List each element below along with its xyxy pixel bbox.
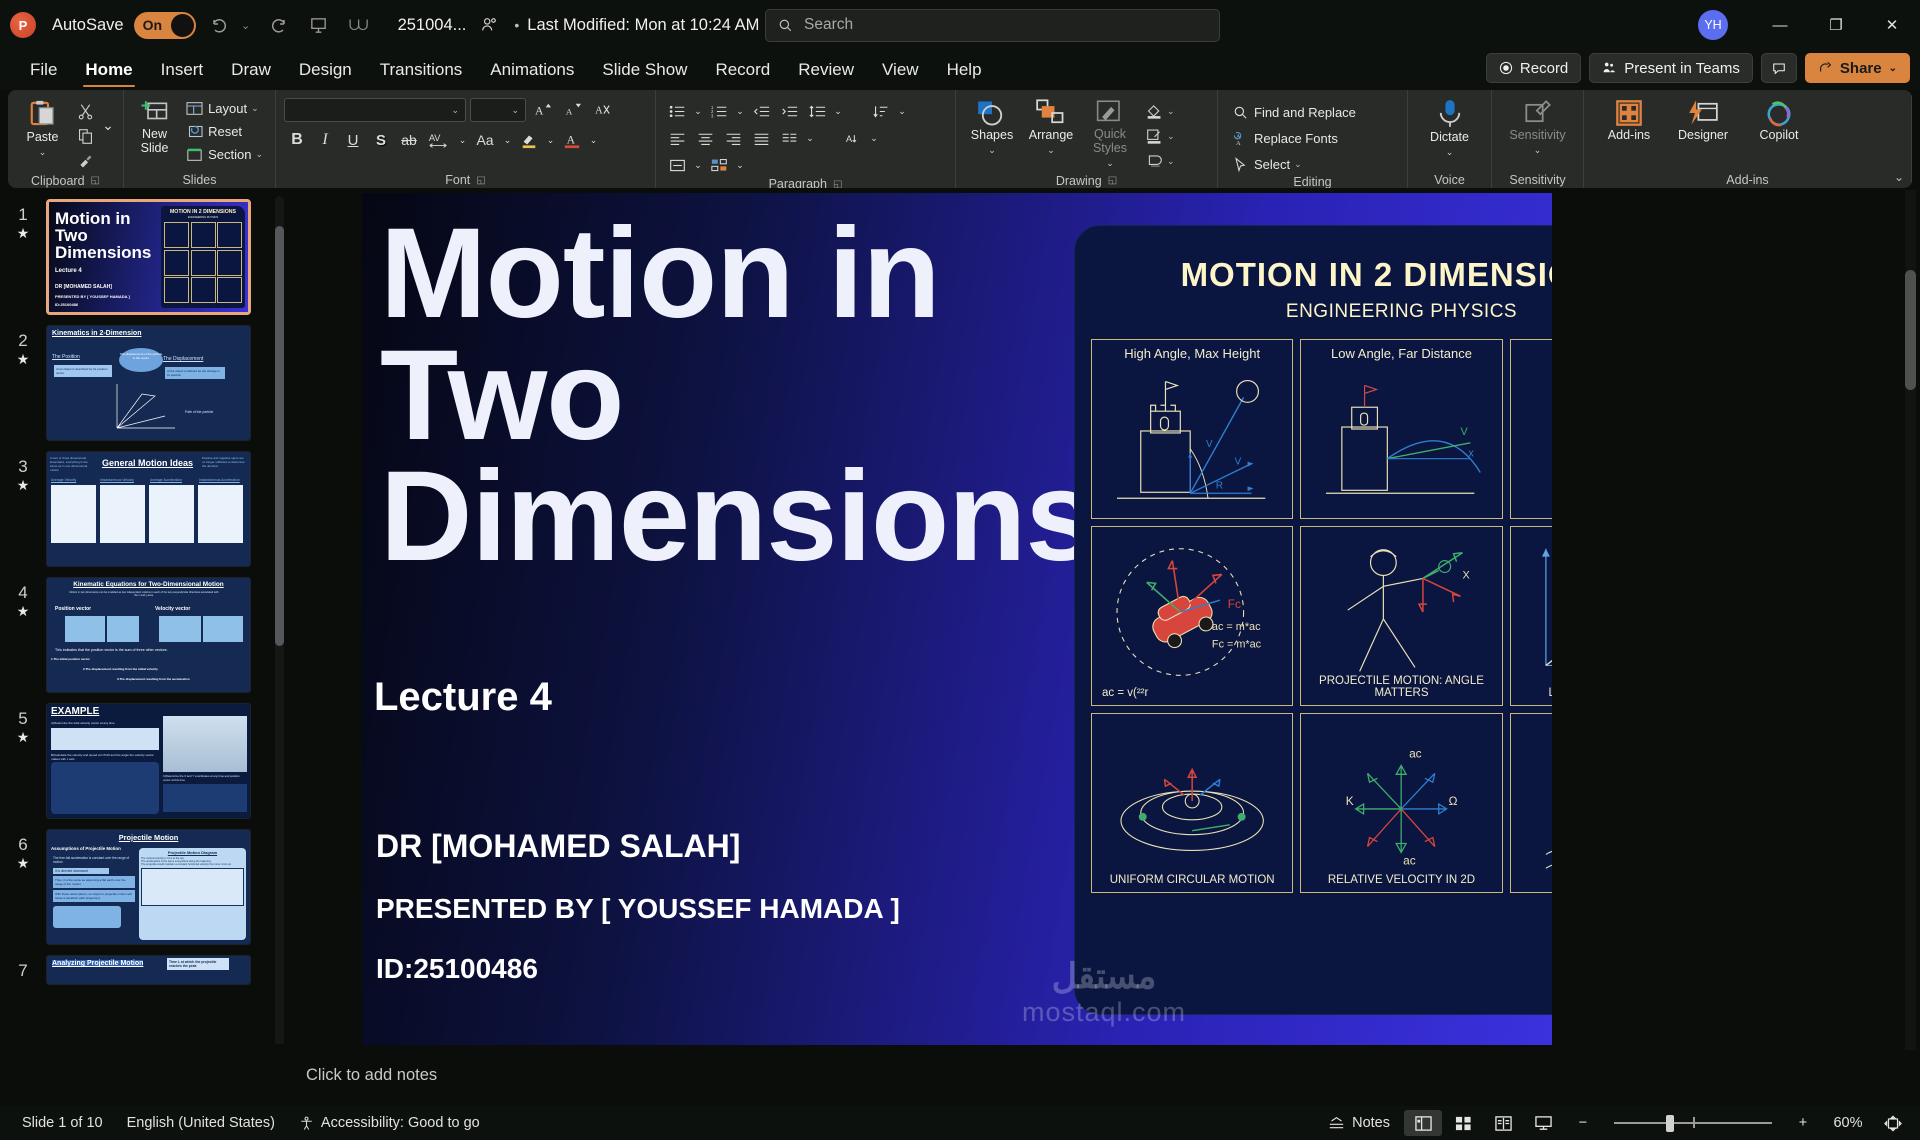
record-label: Record — [1520, 60, 1568, 77]
replace-fonts-icon: AA — [1230, 129, 1250, 147]
copilot-icon — [1764, 99, 1794, 127]
format-painter-icon[interactable] — [72, 149, 98, 173]
thumb-lead: Motion in two dimensions can be modeled … — [69, 591, 219, 597]
last-modified-label[interactable]: Last Modified: Mon at 10:24 AM — [527, 16, 759, 35]
line-spacing-chevron-icon[interactable]: ⌄ — [832, 99, 844, 123]
svg-text:x: x — [1469, 448, 1475, 460]
rocket-vector-diagram-icon: v v x — [1511, 340, 1552, 518]
text-highlight-icon[interactable] — [516, 128, 542, 152]
section-chevron-icon[interactable]: ⌄ — [255, 149, 263, 160]
italic-button[interactable]: I — [312, 128, 338, 152]
zoom-out-button[interactable]: − — [1564, 1110, 1602, 1136]
slideshow-icon — [1534, 1115, 1553, 1132]
infographic-title: MOTION IN 2 DIMENSIONS — [1091, 256, 1552, 294]
quick-styles-icon — [1095, 99, 1125, 126]
new-slide-label: New Slide — [134, 127, 175, 156]
slide-number: 3 — [18, 457, 27, 476]
ribbon-group-sensitivity: Sensitivity ⌄ Sensitivity — [1492, 90, 1584, 188]
start-presentation-icon[interactable] — [302, 8, 336, 42]
align-left-icon[interactable] — [664, 126, 690, 150]
relative-velocity-star-diagram-icon: ac Ω K ac — [1301, 714, 1501, 892]
customize-quick-access-icon[interactable]: ⩊ — [342, 8, 376, 42]
svg-text:A: A — [845, 133, 852, 143]
quick-styles-button[interactable]: Quick Styles ⌄ — [1082, 95, 1138, 173]
status-bar: Slide 1 of 10 English (United States) Ac… — [0, 1106, 1920, 1140]
search-icon — [1230, 103, 1250, 121]
thumb-bubble: The displacement of the particle is the … — [119, 348, 163, 372]
shapes-label: Shapes — [971, 129, 1013, 143]
thumb-n1: 1.The initial position vector — [51, 657, 90, 661]
change-case-chevron-icon[interactable]: ⌄ — [501, 128, 514, 152]
tab-animations[interactable]: Animations — [476, 50, 588, 90]
svg-text:V: V — [1206, 439, 1213, 450]
highlight-chevron-icon[interactable]: ⌄ — [544, 128, 557, 152]
slide-count[interactable]: Slide 1 of 10 — [10, 1110, 115, 1136]
window-controls: YH — ❐ ✕ — [1698, 0, 1920, 50]
ribbon-group-slides: New Slide Layout ⌄ Reset — [124, 90, 276, 188]
share-button[interactable]: Share ⌄ — [1805, 53, 1910, 83]
slide-thumbnail-4[interactable]: Kinematic Equations for Two-Dimensional … — [46, 577, 251, 693]
ribbon-tabs: File Home Insert Draw Design Transitions… — [0, 50, 1920, 90]
share-chevron-icon[interactable]: ⌄ — [1889, 63, 1897, 74]
tab-design[interactable]: Design — [285, 50, 366, 90]
infographic-cell-9: VAC = VAB + BC — [1510, 713, 1552, 893]
fit-slide-button[interactable] — [1874, 1110, 1912, 1136]
font-name-chevron-icon[interactable]: ⌄ — [451, 105, 459, 116]
cell-5-caption: PROJECTILE MOTION: ANGLE MATTERS — [1301, 675, 1501, 699]
thumb-subtitle: Lecture 4 — [55, 268, 82, 274]
thumb-q1: A)Determine the total velocity vector at… — [51, 721, 156, 725]
language-indicator[interactable]: English (United States) — [115, 1110, 287, 1136]
reading-view-button[interactable] — [1484, 1110, 1522, 1136]
infographic-cell-2: Low Angle, Far Distance V x — [1300, 339, 1502, 519]
arrange-label: Arrange — [1029, 129, 1073, 143]
change-case-button[interactable]: Aa — [471, 128, 499, 152]
tab-help[interactable]: Help — [933, 50, 996, 90]
copilot-label: Copilot — [1760, 129, 1799, 143]
character-spacing-chevron-icon[interactable]: ⌄ — [456, 128, 469, 152]
thumb-title: Analyzing Projectile Motion — [52, 960, 143, 967]
section-button[interactable]: Section ⌄ — [180, 143, 267, 165]
find-and-replace-label: Find and Replace — [1254, 105, 1356, 120]
teams-icon — [1602, 61, 1617, 75]
thumb-c3: Average Acceleration — [150, 478, 182, 482]
section-label: Section — [208, 147, 251, 162]
autosave-toggle[interactable]: On — [134, 12, 196, 39]
addins-group-label: Add-ins — [1726, 173, 1768, 187]
cell-4-label-fc: Fc = m*ac — [1212, 639, 1262, 651]
font-name-input[interactable]: ⌄ — [284, 98, 466, 122]
copy-icon[interactable] — [72, 124, 98, 148]
powerpoint-window: P AutoSave On ⌄ ⩊ 251004... • Last Modif… — [0, 0, 1920, 1140]
thumb-title: Kinematics in 2-Dimension — [52, 330, 141, 337]
restore-button[interactable]: ❐ — [1808, 0, 1864, 50]
slide-thumbnail-3[interactable]: General Motion Ideas In two or three dim… — [46, 451, 251, 567]
quick-styles-chevron-icon[interactable]: ⌄ — [1106, 158, 1114, 169]
cell-7-caption: UNIFORM CIRCULAR MOTION — [1092, 874, 1292, 886]
cell-4-label-ac: ac = m*ac — [1212, 621, 1261, 633]
infographic-image[interactable]: MOTION IN 2 DIMENSIONS ENGINEERING PHYSI… — [1074, 225, 1552, 1015]
avatar[interactable]: YH — [1698, 10, 1728, 40]
list-item[interactable]: 2 ★ Kinematics in 2-Dimension The Positi… — [0, 320, 288, 446]
redo-icon[interactable] — [262, 8, 296, 42]
microphone-icon — [1436, 99, 1464, 129]
thumb-credit3: ID:25100486 — [55, 302, 78, 307]
slide-title[interactable]: Motion in Two Dimensions — [380, 213, 1160, 578]
slide-number: 5 — [18, 709, 27, 728]
thumb-n2: 2.The displacement resulting from the in… — [83, 667, 158, 671]
cell-4-caption: ac = v(²²r — [1092, 687, 1292, 699]
search-placeholder: Search — [804, 16, 853, 34]
bullets-chevron-icon[interactable]: ⌄ — [692, 99, 704, 123]
convert-to-smartart-icon[interactable] — [706, 153, 732, 177]
thumb-credit1: DR [MOHAMED SALAH] — [55, 284, 112, 290]
numbering-icon[interactable]: 123 — [706, 99, 732, 123]
paste-chevron-icon[interactable]: ⌄ — [39, 147, 47, 158]
notes-pane[interactable]: Click to add notes — [0, 1044, 1920, 1106]
close-button[interactable]: ✕ — [1864, 0, 1920, 50]
copilot-button[interactable]: Copilot — [1746, 95, 1812, 147]
animation-star-icon[interactable]: ★ — [0, 855, 46, 871]
layout-chevron-icon[interactable]: ⌄ — [251, 103, 259, 114]
thumb-left-note: In two or three dimensional kinematics, … — [50, 456, 95, 472]
undo-icon[interactable] — [202, 8, 236, 42]
grow-font-icon[interactable]: A — [530, 98, 556, 122]
thumb-title: Kinematic Equations for Two-Dimensional … — [47, 581, 250, 588]
font-group-label: Font — [445, 173, 470, 187]
ribbon-group-paragraph: ⌄ 123 ⌄ ⌄ — [656, 90, 956, 188]
shapes-chevron-icon[interactable]: ⌄ — [988, 145, 996, 156]
search-icon — [778, 18, 793, 33]
slide-sorter-button[interactable] — [1444, 1110, 1482, 1136]
share-label: Share — [1840, 60, 1882, 77]
select-arrow-icon — [1230, 155, 1250, 173]
clipboard-dialog-launcher[interactable]: ◱ — [91, 175, 100, 186]
slide-canvas-area: Motion in Two Dimensions Lecture 4 DR [M… — [288, 188, 1920, 1044]
autosave-label: AutoSave — [52, 16, 124, 35]
low-angle-projectile-diagram-icon: V x — [1301, 340, 1501, 518]
replace-fonts-button[interactable]: AA Replace Fonts — [1226, 127, 1360, 149]
animation-star-icon[interactable]: ★ — [0, 603, 46, 619]
shape-effects-icon[interactable] — [1141, 149, 1167, 173]
tab-slide-show[interactable]: Slide Show — [588, 50, 701, 90]
comment-icon — [1771, 61, 1787, 76]
tab-transitions[interactable]: Transitions — [366, 50, 477, 90]
canvas-vertical-scrollbar[interactable] — [1905, 190, 1916, 1050]
thumb-b1: The Position — [52, 354, 80, 360]
shrink-font-icon[interactable]: A — [560, 98, 586, 122]
title-bar: P AutoSave On ⌄ ⩊ 251004... • Last Modif… — [0, 0, 1920, 50]
sort-icon[interactable] — [868, 99, 894, 123]
thumb-n3: 3.The displacement resulting from the ac… — [117, 677, 190, 681]
infographic-cell-7: UNIFORM CIRCULAR MOTION — [1091, 713, 1293, 893]
shape-outline-icon[interactable] — [1141, 124, 1167, 148]
select-button[interactable]: Select ⌄ — [1226, 153, 1360, 175]
tab-draw[interactable]: Draw — [217, 50, 285, 90]
dictate-button[interactable]: Dictate ⌄ — [1422, 95, 1478, 162]
infographic-cell-4: Fc ac = m*ac Fc = m*ac ac = v(²²r — [1091, 526, 1293, 706]
font-size-chevron-icon[interactable]: ⌄ — [511, 105, 519, 116]
smartart-chevron-icon[interactable]: ⌄ — [734, 153, 746, 177]
bullets-icon[interactable] — [664, 99, 690, 123]
thumb-b4: Thus, it is the same as assuming a flat … — [53, 876, 135, 888]
list-item[interactable]: 3 ★ General Motion Ideas In two or three… — [0, 446, 288, 572]
svg-text:y: y — [1551, 534, 1552, 548]
zoom-level[interactable]: 60% — [1824, 1115, 1872, 1131]
thumb-p3: The projectile would maintain a constant… — [141, 863, 244, 866]
text-direction-chevron-icon[interactable]: ⌄ — [868, 126, 880, 150]
slide-thumbnail-6[interactable]: Projectile Motion Assumptions of Project… — [46, 829, 251, 945]
thumb-info-sub: ENGINEERING PHYSICS — [164, 216, 242, 219]
svg-text:A: A — [595, 106, 603, 117]
reset-icon — [184, 122, 204, 140]
slide-canvas[interactable]: Motion in Two Dimensions Lecture 4 DR [M… — [362, 193, 1552, 1045]
slide-number: 7 — [18, 961, 27, 980]
tab-review[interactable]: Review — [784, 50, 868, 90]
title-separator: • — [514, 17, 519, 33]
axes-vector-diagram-icon: y x v x — [1511, 527, 1552, 705]
sensitivity-button[interactable]: Sensitivity ⌄ — [1500, 95, 1575, 160]
slide-credit-presenter[interactable]: PRESENTED BY [ YOUSSEF HAMADA ] — [376, 893, 900, 925]
infographic-cell-1: High Angle, Max Height — [1091, 339, 1293, 519]
paste-label: Paste — [27, 131, 59, 145]
clear-formatting-icon[interactable]: A — [590, 98, 616, 122]
uniform-circular-motion-icon — [1092, 714, 1292, 892]
document-name[interactable]: 251004... — [398, 16, 467, 35]
animation-star-icon[interactable]: ★ — [0, 729, 46, 745]
undo-dropdown-icon[interactable]: ⌄ — [236, 8, 256, 42]
list-item[interactable]: 5 ★ EXAMPLE A)Determine the total veloci… — [0, 698, 288, 824]
present-in-teams-button[interactable]: Present in Teams — [1589, 53, 1753, 83]
editing-group-label: Editing — [1293, 175, 1331, 188]
list-item[interactable]: 6 ★ Projectile Motion Assumptions of Pro… — [0, 824, 288, 950]
slide-thumbnail-2[interactable]: Kinematics in 2-Dimension The Position T… — [46, 325, 251, 441]
character-spacing-button[interactable]: AV — [424, 128, 454, 152]
svg-text:V: V — [1235, 457, 1242, 468]
thumb-credit2: PRESENTED BY [ YOUSSEF HAMADA ] — [55, 294, 130, 299]
slide-number: 4 — [18, 583, 27, 602]
thumb-title: General Motion Ideas — [102, 458, 193, 468]
thumb-b2: The Displacement — [163, 356, 203, 362]
clipboard-group-label: Clipboard — [31, 174, 85, 188]
justify-icon[interactable] — [748, 126, 774, 150]
dictate-chevron-icon[interactable]: ⌄ — [1446, 147, 1454, 158]
cell-6-caption: Low Angle, Far Distance — [1511, 687, 1552, 699]
slide-thumbnail-7[interactable]: Analyzing Projectile Motion Time t, at w… — [46, 955, 251, 985]
list-item[interactable]: 7 Analyzing Projectile Motion Time t, at… — [0, 950, 288, 990]
circular-motion-car-diagram-icon: Fc ac = m*ac Fc = m*ac — [1092, 527, 1292, 705]
select-chevron-icon[interactable]: ⌄ — [1294, 159, 1302, 170]
slide-number: 1 — [18, 205, 27, 224]
svg-text:K: K — [1346, 794, 1354, 808]
align-text-chevron-icon[interactable]: ⌄ — [692, 153, 704, 177]
reset-button[interactable]: Reset — [180, 120, 267, 142]
sort-chevron-icon[interactable]: ⌄ — [896, 99, 908, 123]
infographic-cell-6: y x v x Low Angle, Far Distance — [1510, 526, 1552, 706]
ribbon-group-addins: Add-ins Designer Copil — [1584, 90, 1912, 188]
thumb-note1: of an object is described by its positio… — [54, 365, 112, 377]
slide-subtitle[interactable]: Lecture 4 — [374, 675, 552, 720]
infographic-subtitle: ENGINEERING PHYSICS — [1091, 301, 1552, 323]
thumb-caption: Path of the particle — [185, 410, 213, 414]
designer-label: Designer — [1678, 129, 1728, 143]
animation-star-icon[interactable]: ★ — [0, 225, 46, 241]
reading-view-icon — [1494, 1115, 1513, 1132]
thumb-title: Motion in Two Dimensions — [55, 210, 160, 261]
ribbon: Paste ⌄ ⌄ — [8, 90, 1912, 188]
text-shadow-button[interactable]: S — [368, 128, 394, 152]
list-item[interactable]: 4 ★ Kinematic Equations for Two-Dimensio… — [0, 572, 288, 698]
line-spacing-icon[interactable] — [804, 99, 830, 123]
tab-view[interactable]: View — [868, 50, 933, 90]
thumb-right-note: Positive and negative signs are no longe… — [202, 456, 247, 468]
slide-thumbnail-5[interactable]: EXAMPLE A)Determine the total velocity v… — [46, 703, 251, 819]
sensitivity-chevron-icon[interactable]: ⌄ — [1534, 145, 1542, 156]
arrange-icon — [1036, 99, 1066, 127]
thumb-info-title: MOTION IN 2 DIMENSIONS — [164, 209, 242, 215]
cell-3-caption: r(t) = x(tJí + yjf — [1511, 500, 1552, 512]
record-button[interactable]: Record — [1486, 53, 1581, 83]
cell-8-caption: RELATIVE VELOCITY IN 2D — [1301, 874, 1501, 886]
tab-home[interactable]: Home — [71, 50, 146, 90]
slide-credit-id[interactable]: ID:25100486 — [376, 953, 538, 985]
sensitivity-icon — [1524, 99, 1552, 127]
notes-icon — [1328, 1116, 1345, 1131]
paste-button[interactable]: Paste ⌄ — [16, 95, 69, 162]
drawing-group-label: Drawing — [1056, 174, 1102, 188]
minimize-button[interactable]: — — [1752, 0, 1808, 50]
animation-star-icon[interactable]: ★ — [0, 351, 46, 367]
numbering-chevron-icon[interactable]: ⌄ — [734, 99, 746, 123]
section-icon — [184, 145, 204, 163]
add-ins-button[interactable]: Add-ins — [1598, 95, 1660, 147]
tab-record[interactable]: Record — [701, 50, 784, 90]
infographic-cell-3: v v x r(t) = x(tJí + yjf — [1510, 339, 1552, 519]
slides-group-label: Slides — [182, 173, 216, 187]
ribbon-group-voice: Dictate ⌄ Voice — [1408, 90, 1492, 188]
present-in-teams-label: Present in Teams — [1624, 60, 1740, 77]
thumb-b5: With these assumptions, an object in pro… — [53, 890, 135, 902]
svg-text:A: A — [1236, 139, 1241, 145]
slideshow-button[interactable] — [1524, 1110, 1562, 1136]
thumbnail-panel-scrollbar[interactable] — [275, 196, 284, 1044]
collapse-ribbon-icon[interactable]: ⌄ — [1894, 170, 1904, 184]
shapes-button[interactable]: Shapes ⌄ — [964, 95, 1020, 160]
thumb-q2: B)Calculate the velocity and speed at t=… — [51, 753, 159, 761]
dictate-label: Dictate — [1430, 131, 1469, 145]
autosave-state: On — [143, 17, 162, 33]
accessibility-label: Accessibility: Good to go — [321, 1115, 480, 1131]
increase-indent-icon[interactable] — [776, 99, 802, 123]
svg-text:Ω: Ω — [1449, 794, 1458, 808]
thumb-c1: Average Velocity — [51, 478, 76, 482]
slide-number: 2 — [18, 331, 27, 350]
notes-label: Notes — [1352, 1115, 1390, 1131]
bold-button[interactable]: B — [284, 128, 310, 152]
search-input[interactable]: Search — [765, 9, 1220, 42]
shape-fill-icon[interactable] — [1141, 99, 1167, 123]
columns-chevron-icon[interactable]: ⌄ — [804, 126, 816, 150]
animation-star-icon[interactable]: ★ — [0, 477, 46, 493]
shape-effects-chevron-icon[interactable]: ⌄ — [1167, 156, 1175, 167]
thumb-c4: Instantaneous Acceleration — [199, 478, 240, 482]
toggle-knob — [171, 14, 194, 37]
tab-file[interactable]: File — [16, 50, 71, 90]
align-text-icon[interactable] — [664, 153, 690, 177]
svg-text:ac: ac — [1409, 747, 1422, 761]
arrange-button[interactable]: Arrange ⌄ — [1023, 95, 1079, 160]
cut-icon[interactable] — [72, 99, 98, 123]
thumb-q3: C)Determine the X and Y coordinates at a… — [163, 774, 247, 782]
drawing-dialog-launcher[interactable]: ◱ — [1108, 175, 1117, 186]
layout-button[interactable]: Layout ⌄ — [180, 97, 267, 119]
layout-label: Layout — [208, 101, 247, 116]
infographic-cell-8: ac Ω K ac RELATIVE VELOCITY IN 2D — [1300, 713, 1502, 893]
svg-text:R: R — [1216, 480, 1223, 491]
slide-thumbnail-1[interactable]: Motion in Two Dimensions Lecture 4 DR [M… — [46, 199, 251, 315]
quick-styles-label: Quick Styles — [1084, 128, 1136, 156]
align-center-icon[interactable] — [692, 126, 718, 150]
decrease-indent-icon[interactable] — [748, 99, 774, 123]
layout-icon — [184, 99, 204, 117]
shape-fill-chevron-icon[interactable]: ⌄ — [1167, 106, 1175, 117]
shared-people-icon — [472, 8, 506, 42]
svg-text:Fc: Fc — [1228, 597, 1241, 611]
font-dialog-launcher[interactable]: ◱ — [476, 175, 485, 186]
normal-view-button[interactable] — [1404, 1110, 1442, 1136]
columns-icon[interactable] — [776, 126, 802, 150]
svg-text:3: 3 — [711, 113, 714, 118]
zoom-slider-handle[interactable] — [1666, 1115, 1674, 1132]
find-and-replace-button[interactable]: Find and Replace — [1226, 101, 1360, 123]
thumb-note: Time t, at which the projectile reaches … — [167, 958, 229, 970]
slide-credit-instructor[interactable]: DR [MOHAMED SALAH] — [376, 828, 740, 865]
add-ins-label: Add-ins — [1608, 129, 1650, 143]
font-color-chevron-icon[interactable]: ⌄ — [587, 128, 600, 152]
underline-button[interactable]: U — [340, 128, 366, 152]
accessibility-status[interactable]: Accessibility: Good to go — [287, 1110, 492, 1136]
designer-button[interactable]: Designer — [1670, 95, 1736, 147]
paragraph-dialog-launcher[interactable]: ◱ — [833, 179, 842, 189]
tab-insert[interactable]: Insert — [147, 50, 218, 90]
slide-sorter-icon — [1454, 1115, 1473, 1132]
zoom-in-button[interactable]: + — [1784, 1110, 1822, 1136]
new-slide-button[interactable]: New Slide — [132, 95, 177, 160]
align-right-icon[interactable] — [720, 126, 746, 150]
thumb-b2: Velocity vector — [155, 606, 190, 612]
strikethrough-button[interactable]: ab — [396, 128, 422, 152]
ribbon-group-clipboard: Paste ⌄ ⌄ — [8, 90, 124, 188]
list-item[interactable]: 1 ★ Motion in Two Dimensions Lecture 4 D… — [0, 194, 288, 320]
font-size-input[interactable]: ⌄ — [470, 98, 526, 122]
notes-placeholder[interactable]: Click to add notes — [306, 1066, 437, 1085]
comments-button[interactable] — [1761, 53, 1797, 83]
thumb-c2: Instantaneous Velocity — [100, 478, 134, 482]
shape-outline-chevron-icon[interactable]: ⌄ — [1167, 131, 1175, 142]
font-color-icon[interactable]: A — [559, 128, 585, 152]
text-direction-icon[interactable]: A — [840, 126, 866, 150]
record-icon — [1499, 61, 1513, 75]
clipboard-more-chevron-icon[interactable]: ⌄ — [101, 113, 115, 137]
arrange-chevron-icon[interactable]: ⌄ — [1047, 145, 1055, 156]
notes-button[interactable]: Notes — [1316, 1110, 1402, 1136]
zoom-slider[interactable] — [1614, 1113, 1772, 1133]
svg-text:A: A — [567, 134, 576, 147]
paste-icon — [28, 99, 58, 129]
ribbon-group-editing: Find and Replace AA Replace Fonts Select — [1218, 90, 1408, 188]
shapes-icon — [977, 99, 1007, 127]
thumb-title: Projectile Motion — [47, 833, 250, 842]
